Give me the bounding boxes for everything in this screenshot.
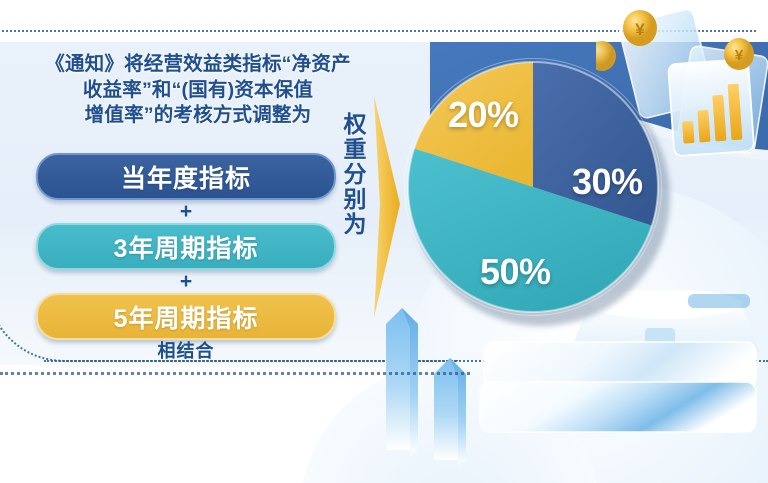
plus-separator-2: + — [36, 270, 336, 293]
plus-separator-1: + — [36, 200, 336, 223]
indicators-footer-label: 相结合 — [36, 337, 336, 363]
right-arrow-icon — [370, 92, 404, 322]
pie-label-20: 20% — [448, 94, 519, 136]
page-title: 《通知》将经营效益类指标“净资产 收益率”和“(国有)资本保值 增值率”的考核方… — [8, 52, 388, 129]
pie-chart: 30% 50% 20% — [404, 58, 670, 324]
coin-icon: ¥ — [623, 10, 657, 46]
baseline-dotted-line — [0, 372, 470, 375]
pie-label-50: 50% — [480, 251, 551, 293]
blue-columns-group — [372, 300, 482, 483]
infographic-canvas: ¥ ¥ — [0, 0, 768, 483]
indicator-pill-current-year[interactable]: 当年度指标 — [36, 153, 336, 200]
coin-icon: ¥ — [724, 38, 754, 70]
pie-label-30: 30% — [572, 161, 643, 203]
headline-line-1: 《通知》将经营效益类指标“净资产 — [8, 52, 388, 78]
indicator-list: 当年度指标 + 3年周期指标 + 5年周期指标 — [36, 153, 336, 340]
indicator-pill-3-year[interactable]: 3年周期指标 — [36, 223, 336, 270]
weight-label: 权重分别为 — [336, 112, 366, 237]
headline-line-3: 增值率”的考核方式调整为 — [8, 103, 388, 129]
svg-text:¥: ¥ — [735, 47, 744, 64]
headline-line-2: 收益率”和“(国有)资本保值 — [8, 78, 388, 104]
indicator-pill-5-year[interactable]: 5年周期指标 — [36, 293, 336, 340]
svg-text:¥: ¥ — [635, 20, 645, 39]
